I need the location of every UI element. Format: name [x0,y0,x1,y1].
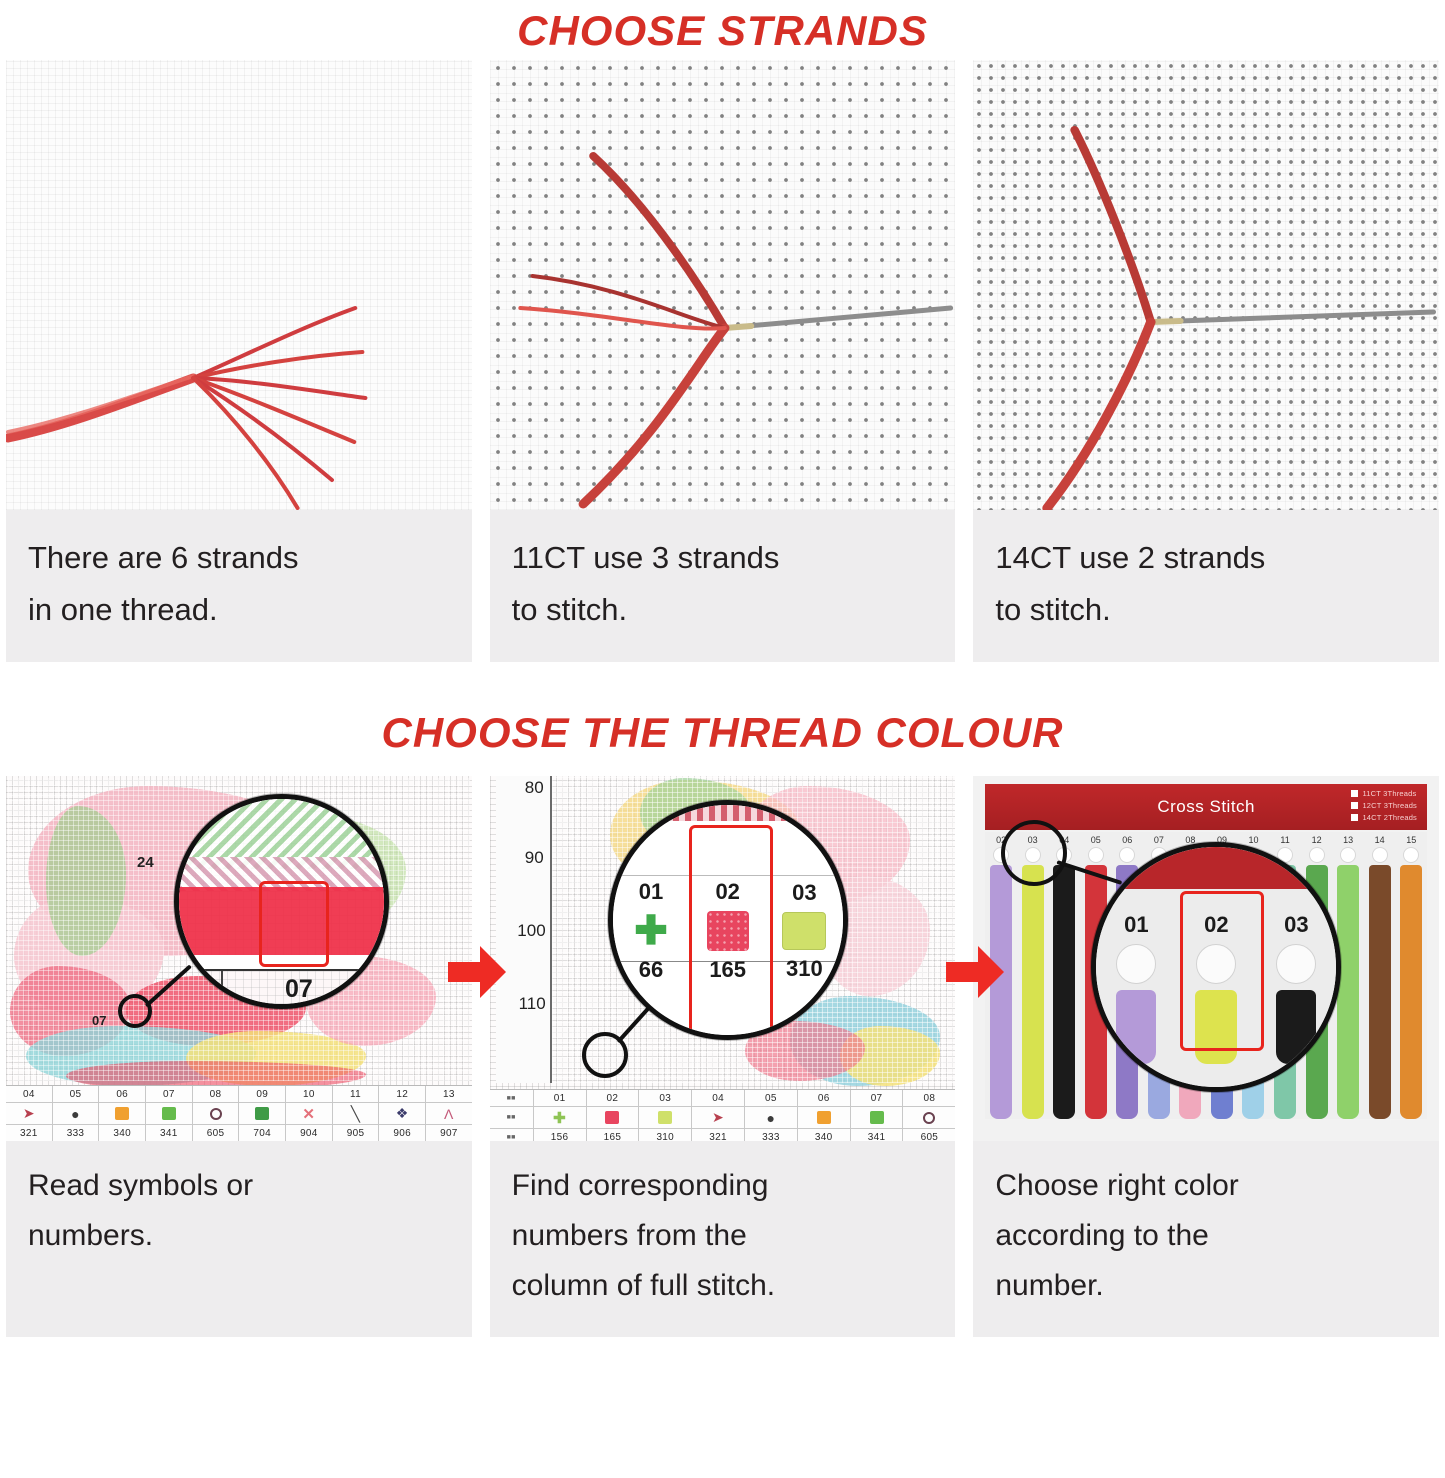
legend-code-cell: 321 [6,1125,53,1141]
lens-col-number: 03 [1284,912,1308,938]
option-label: 11CT 3Threads [1362,789,1416,798]
infographic-page: CHOOSE STRANDS [0,0,1445,1478]
legend-symbol-caret: Λ [426,1103,472,1125]
card-find-numbers: 80 90 100 110 [490,776,956,1337]
lens-column-01: 01 [1096,889,1176,1087]
legend-symbol-cross: ✚ [534,1107,587,1129]
legend-header-cell: 10 [286,1086,333,1103]
photo-11ct-aida [490,60,956,510]
thread-skein [1400,865,1422,1119]
photo-thread-card: Cross Stitch 11CT 3Threads 12CT 3Threads [973,776,1439,1141]
lens-col-number: 02 [715,879,739,905]
legend-header-cell: 12 [379,1086,426,1103]
legend-code-row: ■■ 156 165 310 321 333 340 341 605 [490,1129,956,1141]
chart-cell-label-24: 24 [137,854,154,871]
legend-code-cell: 321 [692,1129,745,1141]
caption-text: Read symbols or numbers. [28,1161,452,1261]
lens-column-01: 01 ✚ 66 [613,831,690,1031]
legend-code-cell: 605 [903,1129,955,1141]
lens-number-07: 07 [285,975,313,1004]
legend-symbol-filled-green-square [239,1103,286,1125]
legend-symbol-dot: ● [53,1103,100,1125]
legend-code-cell: 333 [53,1125,100,1141]
legend-code-cell: 333 [745,1129,798,1141]
slot-number: 11 [1280,835,1289,845]
chart-cell-label-07: 07 [92,1013,106,1028]
legend-header-row: 04 05 06 07 08 09 10 11 12 13 [6,1086,472,1103]
card-11ct-three-strands: 11CT use 3 strands to stitch. [490,60,956,662]
magnifier-lens-numbers: 01 ✚ 66 02 165 03 [608,800,848,1040]
thread-skein [1337,865,1359,1119]
section-heading-choose-thread-colour: CHOOSE THE THREAD COLOUR [0,704,1445,762]
six-strand-floss-illustration [6,60,472,510]
legend-header-cell: 13 [426,1086,472,1103]
legend-symbol-orange-square [798,1107,851,1129]
right-arrow-icon [446,944,508,1000]
section-choose-thread-colour: CHOOSE THE THREAD COLOUR [0,704,1445,1337]
lens-column-02: 02 165 [689,831,766,1031]
lens-col-code: 66 [639,957,663,983]
legend-header-cell: 06 [99,1086,146,1103]
legend-code-cell: 341 [146,1125,193,1141]
slot-number: 13 [1343,835,1353,845]
symbol-legend-table: 04 05 06 07 08 09 10 11 12 13 ➤ [6,1085,472,1141]
card-choose-color: Cross Stitch 11CT 3Threads 12CT 3Threads [973,776,1439,1337]
slot-number: 06 [1122,835,1132,845]
legend-header-cell: 07 [851,1090,904,1107]
legend-corner-cell: ■■ [490,1129,534,1141]
legend-code-cell: 156 [534,1129,587,1141]
lens-slot-hole [1196,944,1236,984]
lens-content: 01 ✚ 66 02 165 03 [613,805,843,1035]
card-read-symbols: 24 07 [6,776,472,1337]
strands-card-row: There are 6 strands in one thread. [0,60,1445,662]
slot-hole [1372,847,1388,863]
legend-code-cell: 605 [193,1125,240,1141]
legend-symbol-x-cross: ✕ [286,1103,333,1125]
lens-slot-hole [1116,944,1156,984]
chart-row-axis: 80 90 100 110 [496,776,552,1083]
caption-14ct: 14CT use 2 strands to stitch. [973,510,1439,662]
slot-number: 05 [1091,835,1101,845]
arrow-step-1-to-2 [446,944,508,1000]
lens-col-number: 03 [792,880,816,906]
caption-six-strands: There are 6 strands in one thread. [6,510,472,662]
arrow-step-2-to-3 [944,944,1006,1000]
lens-col-symbol: ✚ [634,911,668,951]
legend-symbol-open-circle [903,1107,955,1129]
legend-symbol-bird: ➤ [6,1103,53,1125]
caption-find-numbers: Find corresponding numbers from the colu… [490,1141,956,1337]
lens-col-swatch [707,911,749,951]
legend-symbol-pink-square [587,1107,640,1129]
lens-col-number: 01 [1124,912,1148,938]
thread-skein [1053,865,1075,1119]
checkbox-icon[interactable] [1351,814,1358,821]
caption-read-symbols: Read symbols or numbers. [6,1141,472,1337]
caption-choose-color: Choose right color according to the numb… [973,1141,1439,1337]
magnifier-lens-threads: 01 02 03 [1091,842,1341,1092]
photo-six-strands [6,60,472,510]
caption-text: 14CT use 2 strands to stitch. [995,532,1419,636]
slot-number: 07 [1154,835,1164,845]
legend-code-cell: 340 [99,1125,146,1141]
lens-legend-columns: 01 ✚ 66 02 165 03 [613,831,843,1031]
lens-col-swatch [782,912,826,950]
legend-symbol-open-circle [193,1103,240,1125]
slot-number: 14 [1375,835,1385,845]
lens-thread-skein [1195,990,1237,1064]
magnifier-lens-symbols: 07 [174,794,389,1009]
legend-symbol-green-square [851,1107,904,1129]
thread-slot: 15 [1395,832,1427,1119]
section-choose-strands: CHOOSE STRANDS [0,0,1445,662]
legend-code-cell: 905 [333,1125,380,1141]
lens-column-02: 02 [1176,889,1256,1087]
legend-symbol-dot: ● [745,1107,798,1129]
photo-pattern-chart-symbols: 24 07 [6,776,472,1141]
legend-code-row: 321 333 340 341 605 704 904 905 906 907 [6,1125,472,1141]
lens-thread-columns: 01 02 03 [1096,889,1336,1087]
thread-card-title: Cross Stitch [1157,797,1255,817]
lens-column-03: 03 [1256,889,1336,1087]
right-arrow-icon [944,944,1006,1000]
row-label: 90 [525,848,544,868]
thread-card-header: Cross Stitch 11CT 3Threads 12CT 3Threads [985,784,1427,830]
lens-slot-hole [1276,944,1316,984]
caption-11ct: 11CT use 3 strands to stitch. [490,510,956,662]
lens-thread-skein [1116,990,1156,1064]
legend-header-row: ■■ 01 02 03 04 05 06 07 08 [490,1090,956,1107]
legend-symbol-row: ■■ ✚ ➤ ● [490,1107,956,1129]
legend-header-cell: 04 [692,1090,745,1107]
caption-text: Choose right color according to the numb… [995,1161,1419,1311]
slot-number: 10 [1248,835,1258,845]
thread-skein [1369,865,1391,1119]
legend-symbol-green-square [146,1103,193,1125]
lens-content: 07 [179,799,384,1004]
caption-text: There are 6 strands in one thread. [28,532,452,636]
card-14ct-two-strands: 14CT use 2 strands to stitch. [973,60,1439,662]
legend-symbol-backslash: ╲ [333,1103,380,1125]
lens-column-03: 03 310 [766,831,843,1031]
legend-symbol-row: ➤ ● ✕ ╲ ❖ Λ [6,1103,472,1125]
legend-code-cell: 340 [798,1129,851,1141]
card-six-strands: There are 6 strands in one thread. [6,60,472,662]
legend-code-cell: 165 [587,1129,640,1141]
legend-header-cell: 08 [193,1086,240,1103]
lens-col-number: 01 [639,879,663,905]
legend-header-cell: 05 [53,1086,100,1103]
row-label: 110 [519,994,546,1014]
legend-header-cell: 11 [333,1086,380,1103]
lens-origin-marker [1001,820,1067,886]
legend-symbol-bird: ➤ [692,1107,745,1129]
legend-header-cell: 06 [798,1090,851,1107]
legend-header-cell: 04 [6,1086,53,1103]
caption-text: 11CT use 3 strands to stitch. [512,532,936,636]
legend-symbol-lime-square [639,1107,692,1129]
number-legend-table: ■■ 01 02 03 04 05 06 07 08 ■■ ✚ [490,1089,956,1141]
legend-header-cell: 03 [639,1090,692,1107]
option-row: 12CT 3Threads [1351,801,1417,810]
caption-text: Find corresponding numbers from the colu… [512,1161,936,1311]
lens-origin-marker [118,994,152,1028]
slot-number: 15 [1406,835,1416,845]
thread-colour-card-row: 24 07 [0,776,1445,1337]
lens-col-number: 02 [1204,912,1228,938]
row-label: 80 [525,778,544,798]
legend-code-cell: 704 [239,1125,286,1141]
thread-skein [1022,865,1044,1119]
legend-code-cell: 341 [851,1129,904,1141]
legend-code-cell: 904 [286,1125,333,1141]
legend-symbol-orange-square [99,1103,146,1125]
section-heading-choose-strands: CHOOSE STRANDS [0,0,1445,60]
legend-corner-cell: ■■ [490,1107,534,1129]
slot-hole [1403,847,1419,863]
option-row: 14CT 2Threads [1351,813,1417,822]
lens-col-code: 310 [786,956,823,982]
option-row: 11CT 3Threads [1351,789,1417,798]
legend-header-cell: 07 [146,1086,193,1103]
legend-code-cell: 906 [379,1125,426,1141]
legend-code-cell: 310 [639,1129,692,1141]
legend-symbol-leaf: ❖ [379,1103,426,1125]
legend-header-cell: 01 [534,1090,587,1107]
option-label: 12CT 3Threads [1362,801,1417,810]
thread-card-options: 11CT 3Threads 12CT 3Threads 14CT 2Thread… [1351,789,1417,822]
legend-header-cell: 02 [587,1090,640,1107]
legend-header-cell: 09 [239,1086,286,1103]
lens-col-code: 165 [709,957,746,983]
legend-corner-cell: ■■ [490,1090,534,1107]
legend-header-cell: 05 [745,1090,798,1107]
option-label: 14CT 2Threads [1362,813,1417,822]
slot-number: 12 [1312,835,1322,845]
photo-14ct-aida [973,60,1439,510]
row-label: 100 [517,921,545,941]
legend-code-cell: 907 [426,1125,472,1141]
legend-header-cell: 08 [903,1090,955,1107]
checkbox-icon[interactable] [1351,802,1358,809]
checkbox-icon[interactable] [1351,790,1358,797]
lens-content: 01 02 03 [1096,847,1336,1087]
three-strands-needle-illustration [490,60,956,510]
two-strands-needle-illustration [973,60,1439,510]
slot-hole [1340,847,1356,863]
thread-slot: 14 [1364,832,1396,1119]
photo-pattern-chart-numbers: 80 90 100 110 [490,776,956,1141]
lens-thread-skein [1276,990,1316,1064]
